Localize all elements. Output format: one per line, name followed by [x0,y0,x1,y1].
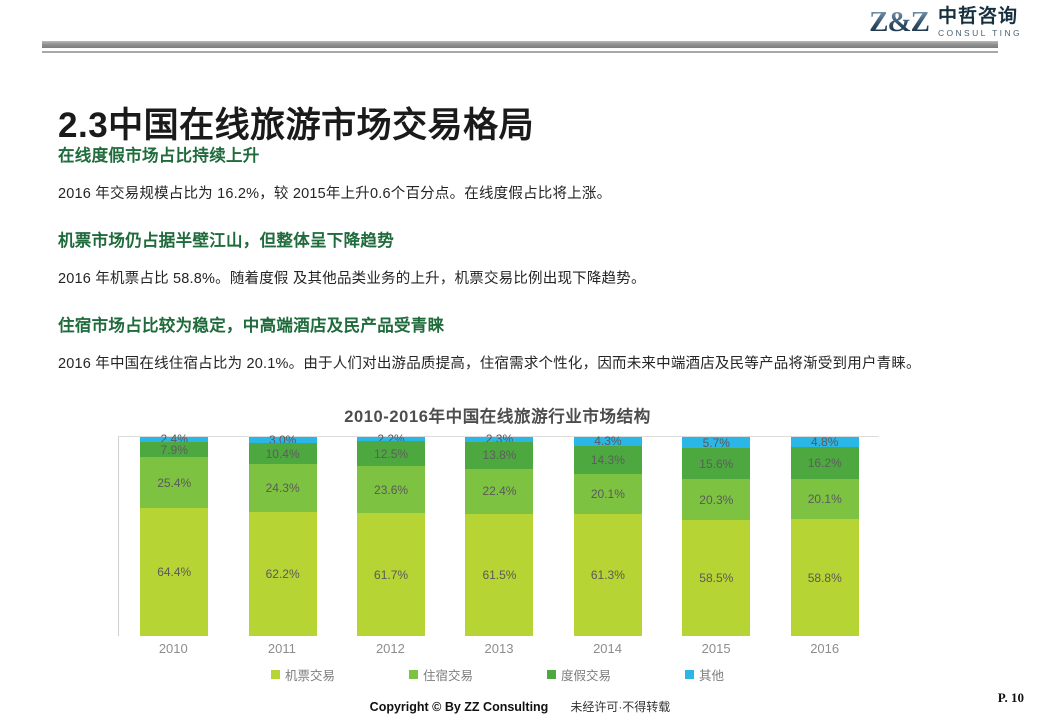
chart-x-tick-label: 2013 [465,641,533,656]
chart-x-tick-label: 2015 [682,641,750,656]
legend-label: 度假交易 [561,665,611,684]
chart-bar: 2.3%13.8%22.4%61.5% [465,437,533,636]
chart-legend-item: 度假交易 [547,665,611,684]
legend-label: 其他 [699,665,724,684]
chart-legend-item: 其他 [685,665,724,684]
chart-segment-label: 61.7% [374,568,408,582]
chart-segment-label: 25.4% [157,476,191,490]
chart-segment-label: 12.5% [374,447,408,461]
chart-segment: 20.1% [791,479,859,519]
chart-segment: 15.6% [682,448,750,479]
section-heading-online-vacation: 在线度假市场占比持续上升 [58,142,984,166]
chart-legend-item: 机票交易 [271,665,335,684]
content-body: 在线度假市场占比持续上升 2016 年交易规模占比为 16.2%，较 2015年… [58,142,984,377]
chart-segment-label: 58.8% [808,571,842,585]
chart-segment-label: 62.2% [266,567,300,581]
legend-swatch-icon [409,670,418,679]
footer-copyright: Copyright © By ZZ Consulting [370,700,549,714]
chart-segment-label: 22.4% [482,484,516,498]
chart-segment-label: 10.4% [266,447,300,461]
chart-segment-label: 14.3% [591,453,625,467]
footer: Copyright © By ZZ Consulting 未经许可·不得转载 [0,698,1040,715]
chart-plot-area: 2.4%7.9%25.4%64.4%3.0%10.4%24.3%62.2%2.2… [118,436,879,636]
chart-segment: 16.2% [791,447,859,479]
chart-bar: 3.0%10.4%24.3%62.2% [249,437,317,636]
chart-legend-item: 住宿交易 [409,665,473,684]
chart-segment-label: 20.1% [808,492,842,506]
logo-name-cn: 中哲咨询 [938,7,1022,26]
chart-segment: 4.8% [791,437,859,447]
chart-segment-label: 7.9% [161,443,188,457]
chart-segment: 14.3% [574,446,642,474]
chart-segment: 7.9% [140,442,208,458]
section-body-online-vacation: 2016 年交易规模占比为 16.2%，较 2015年上升0.6个百分点。在线度… [58,182,984,207]
chart-segment: 64.4% [140,508,208,636]
legend-label: 机票交易 [285,665,335,684]
logo-mark: Z&Z [869,8,929,37]
logo-name-en: CONSUL TING [938,29,1022,38]
chart-bar: 4.8%16.2%20.1%58.8% [791,437,859,636]
chart-bar: 4.3%14.3%20.1%61.3% [574,437,642,636]
chart-x-tick-label: 2010 [139,641,207,656]
chart-segment: 61.7% [357,513,425,636]
chart-segment: 61.5% [465,514,533,636]
chart-segment: 62.2% [249,512,317,636]
chart-legend: 机票交易住宿交易度假交易其他 [110,665,885,684]
chart-x-tick-label: 2011 [248,641,316,656]
chart-segment: 10.4% [249,443,317,464]
chart-x-tick-label: 2014 [574,641,642,656]
section-heading-air-ticket: 机票市场仍占据半壁江山，但整体呈下降趋势 [58,227,984,251]
legend-swatch-icon [685,670,694,679]
chart-segment-label: 16.2% [808,456,842,470]
chart-segment: 61.3% [574,514,642,636]
page-title: 2.3中国在线旅游市场交易格局 [58,97,534,148]
legend-label: 住宿交易 [423,665,473,684]
section-body-air-ticket: 2016 年机票占比 58.8%。随着度假 及其他品类业务的上升，机票交易比例出… [58,267,984,292]
chart-title: 2010-2016年中国在线旅游行业市场结构 [110,403,885,427]
brand-logo: Z&Z 中哲咨询 CONSUL TING [869,4,1022,40]
chart-x-tick-label: 2016 [791,641,859,656]
chart-x-axis: 2010201120122013201420152016 [119,641,879,656]
chart-segment: 23.6% [357,466,425,513]
chart-segment-label: 20.1% [591,487,625,501]
chart-segment-label: 64.4% [157,565,191,579]
chart-segment-label: 61.5% [482,568,516,582]
header-divider-thick [42,41,998,48]
chart-segment-label: 24.3% [266,481,300,495]
section-heading-accommodation: 住宿市场占比较为稳定，中高端酒店及民产品受青睐 [58,312,984,336]
section-body-accommodation: 2016 年中国在线住宿占比为 20.1%。由于人们对出游品质提高，住宿需求个性… [58,352,984,377]
logo-wordmark: 中哲咨询 CONSUL TING [938,7,1022,38]
chart-segment: 4.3% [574,437,642,446]
chart-segment-label: 61.3% [591,568,625,582]
chart-bar: 2.4%7.9%25.4%64.4% [140,437,208,636]
chart-segment: 12.5% [357,441,425,466]
chart-segment-label: 23.6% [374,483,408,497]
header-divider-thin [42,51,998,53]
chart-segment: 25.4% [140,457,208,507]
market-structure-chart: 2010-2016年中国在线旅游行业市场结构 2.4%7.9%25.4%64.4… [110,403,885,686]
chart-segment: 13.8% [465,442,533,469]
chart-segment-label: 15.6% [699,457,733,471]
chart-segment: 20.3% [682,479,750,519]
chart-segment: 5.7% [682,437,750,448]
chart-segment-label: 58.5% [699,571,733,585]
chart-segment-label: 20.3% [699,493,733,507]
chart-bar: 5.7%15.6%20.3%58.5% [682,437,750,636]
chart-segment-label: 13.8% [482,448,516,462]
chart-segment: 24.3% [249,464,317,512]
chart-segment: 58.5% [682,520,750,636]
legend-swatch-icon [271,670,280,679]
chart-x-tick-label: 2012 [356,641,424,656]
chart-segment: 20.1% [574,474,642,514]
chart-bars: 2.4%7.9%25.4%64.4%3.0%10.4%24.3%62.2%2.2… [120,437,879,636]
chart-segment: 58.8% [791,519,859,636]
footer-notice: 未经许可·不得转载 [570,698,670,715]
legend-swatch-icon [547,670,556,679]
chart-bar: 2.2%12.5%23.6%61.7% [357,437,425,636]
chart-segment: 22.4% [465,469,533,514]
page-number: P. 10 [998,690,1024,706]
